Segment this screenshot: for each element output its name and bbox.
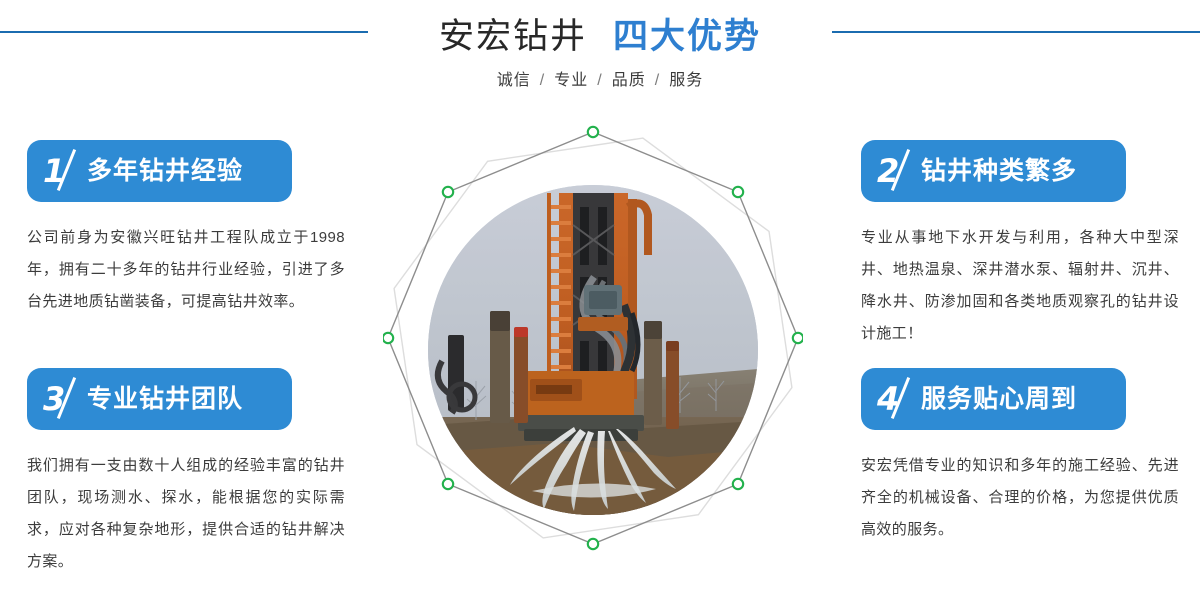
feature-card-3-header: 3 专业钻井团队 xyxy=(27,368,292,430)
feature-card-2-title: 钻井种类繁多 xyxy=(921,140,1077,202)
feature-advantages-banner: 安宏钻井四大优势 诚信/专业/品质/服务 1 多年钻井经验 公司前身为安徽兴旺钻… xyxy=(0,0,1200,600)
vertex-node-icon xyxy=(443,479,453,489)
vertex-node-icon xyxy=(733,187,743,197)
subtitle-item-3: 服务 xyxy=(669,72,703,89)
feature-card-3-title: 专业钻井团队 xyxy=(87,368,243,430)
feature-card-3[interactable]: 3 专业钻井团队 我们拥有一支由数十人组成的经验丰富的钻井团队，现场测水、探水，… xyxy=(18,368,348,578)
feature-card-2[interactable]: 2 钻井种类繁多 专业从事地下水开发与利用，各种大中型深井、地热温泉、深井潜水泵… xyxy=(852,140,1182,350)
drilling-rig-photo xyxy=(428,185,758,515)
vertex-node-icon xyxy=(733,479,743,489)
subtitle-item-1: 专业 xyxy=(554,72,588,89)
subtitle-separator-0: / xyxy=(540,72,545,89)
subtitle-separator-2: / xyxy=(655,72,660,89)
page-header: 安宏钻井四大优势 诚信/专业/品质/服务 xyxy=(0,0,1200,110)
feature-card-4-body: 安宏凭借专业的知识和多年的施工经验、先进齐全的机械设备、合理的价格，为您提供优质… xyxy=(861,450,1179,546)
vertex-node-icon xyxy=(443,187,453,197)
feature-card-4-title: 服务贴心周到 xyxy=(921,368,1077,430)
feature-card-1-title: 多年钻井经验 xyxy=(87,140,243,202)
title-main-text: 安宏钻井 xyxy=(439,17,587,56)
title-accent-text: 四大优势 xyxy=(613,17,761,56)
center-graphic xyxy=(383,110,803,590)
subtitle-item-0: 诚信 xyxy=(497,72,531,89)
feature-card-1-header: 1 多年钻井经验 xyxy=(27,140,292,202)
feature-card-4-header: 4 服务贴心周到 xyxy=(861,368,1126,430)
feature-card-4[interactable]: 4 服务贴心周到 安宏凭借专业的知识和多年的施工经验、先进齐全的机械设备、合理的… xyxy=(852,368,1182,546)
vertex-node-icon xyxy=(588,127,598,137)
subtitle-item-2: 品质 xyxy=(612,72,646,89)
number-3-icon: 3 xyxy=(41,368,87,430)
feature-card-3-body: 我们拥有一支由数十人组成的经验丰富的钻井团队，现场测水、探水，能根据您的实际需求… xyxy=(27,450,345,578)
page-title: 安宏钻井四大优势 xyxy=(0,8,1200,59)
number-1-icon: 1 xyxy=(41,140,87,202)
page-subtitle: 诚信/专业/品质/服务 xyxy=(0,66,1200,90)
vertex-node-icon xyxy=(588,539,598,549)
number-4-icon: 4 xyxy=(875,368,921,430)
feature-card-2-body: 专业从事地下水开发与利用，各种大中型深井、地热温泉、深井潜水泵、辐射井、沉井、降… xyxy=(861,222,1179,350)
feature-card-1-body: 公司前身为安徽兴旺钻井工程队成立于1998年，拥有二十多年的钻井行业经验，引进了… xyxy=(27,222,345,318)
feature-card-2-header: 2 钻井种类繁多 xyxy=(861,140,1126,202)
drilling-rig-illustration xyxy=(428,185,758,515)
number-2-icon: 2 xyxy=(875,140,921,202)
vertex-node-icon xyxy=(383,333,393,343)
feature-card-1[interactable]: 1 多年钻井经验 公司前身为安徽兴旺钻井工程队成立于1998年，拥有二十多年的钻… xyxy=(18,140,348,318)
subtitle-separator-1: / xyxy=(597,72,602,89)
vertex-node-icon xyxy=(793,333,803,343)
